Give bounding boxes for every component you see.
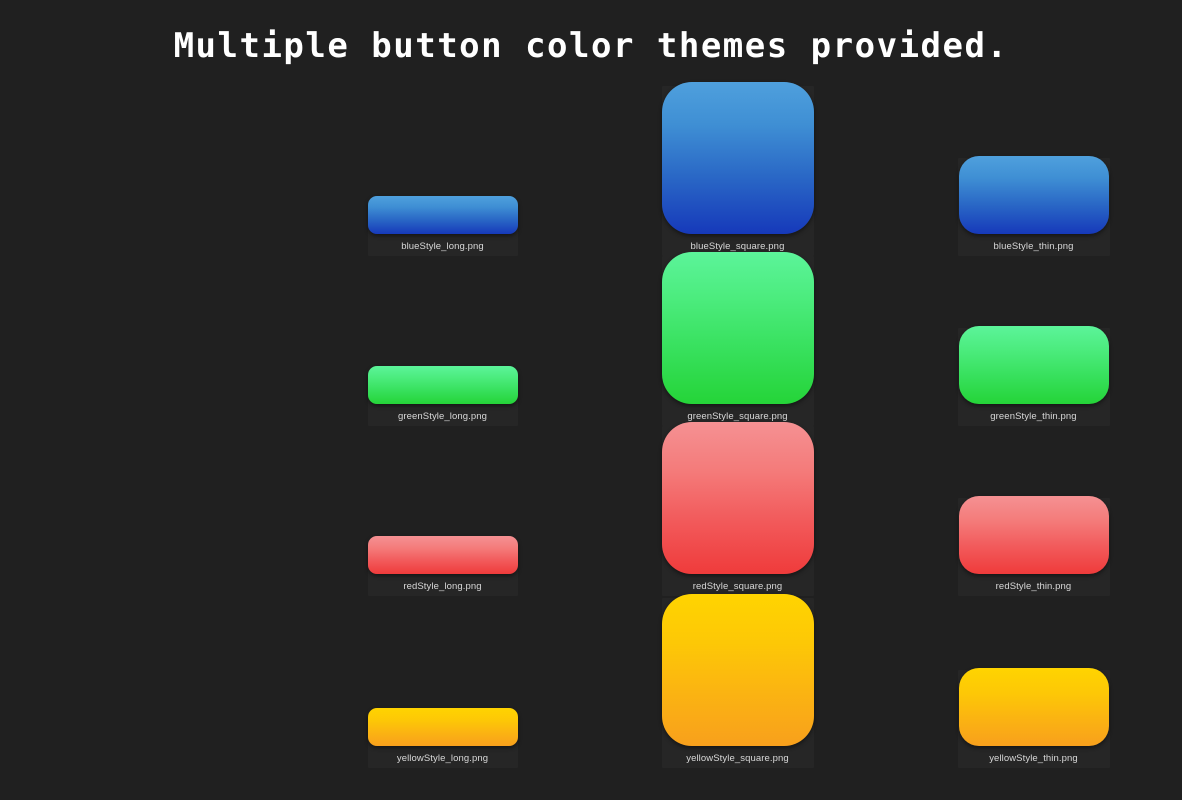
asset-label: greenStyle_thin.png [990,411,1076,422]
button-preview-blue-thin[interactable] [959,156,1109,234]
grid-spacer [0,596,295,768]
asset-label: blueStyle_square.png [691,241,785,252]
button-preview-yellow-long[interactable] [368,708,518,746]
button-preview-blue-square[interactable] [662,82,814,234]
button-preview-red-thin[interactable] [959,496,1109,574]
title-bar: Multiple button color themes provided. [0,0,1182,78]
button-preview-green-thin[interactable] [959,326,1109,404]
asset-label: yellowStyle_long.png [397,753,488,764]
asset-cell-red-thin[interactable]: redStyle_thin.png [885,426,1182,596]
page-title: Multiple button color themes provided. [174,26,1009,66]
asset-cell-yellow-square[interactable]: yellowStyle_square.png [590,596,885,768]
asset-cell-green-thin[interactable]: greenStyle_thin.png [885,256,1182,426]
grid-spacer [0,426,295,596]
asset-cell-yellow-thin[interactable]: yellowStyle_thin.png [885,596,1182,768]
asset-label: yellowStyle_thin.png [989,753,1078,764]
asset-cell-red-square[interactable]: redStyle_square.png [590,426,885,596]
button-preview-green-square[interactable] [662,252,814,404]
asset-cell-red-long[interactable]: redStyle_long.png [295,426,590,596]
button-preview-red-long[interactable] [368,536,518,574]
asset-label: blueStyle_thin.png [994,241,1074,252]
asset-label: greenStyle_square.png [687,411,787,422]
asset-label: yellowStyle_square.png [686,753,789,764]
asset-label: redStyle_thin.png [996,581,1072,592]
grid-spacer [0,256,295,426]
button-preview-green-long[interactable] [368,366,518,404]
asset-label: greenStyle_long.png [398,411,487,422]
button-preview-yellow-thin[interactable] [959,668,1109,746]
asset-cell-yellow-long[interactable]: yellowStyle_long.png [295,596,590,768]
asset-cell-blue-long[interactable]: blueStyle_long.png [295,86,590,256]
asset-cell-blue-thin[interactable]: blueStyle_thin.png [885,86,1182,256]
asset-label: redStyle_square.png [693,581,783,592]
asset-cell-green-long[interactable]: greenStyle_long.png [295,256,590,426]
button-preview-blue-long[interactable] [368,196,518,234]
grid-spacer [0,86,295,256]
asset-cell-green-square[interactable]: greenStyle_square.png [590,256,885,426]
asset-grid: blueStyle_long.png blueStyle_square.png … [0,86,1182,800]
asset-label: blueStyle_long.png [401,241,484,252]
asset-label: redStyle_long.png [403,581,481,592]
button-preview-red-square[interactable] [662,422,814,574]
asset-cell-blue-square[interactable]: blueStyle_square.png [590,86,885,256]
button-preview-yellow-square[interactable] [662,594,814,746]
